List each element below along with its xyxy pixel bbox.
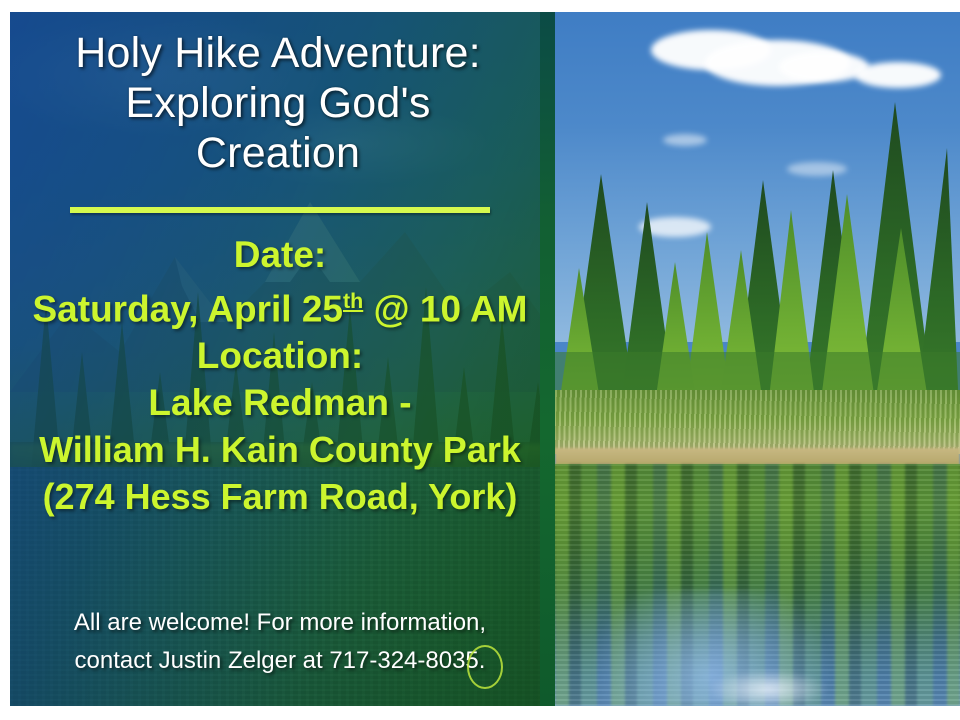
date-value: Saturday, April 25th @ 10 AM xyxy=(10,278,550,332)
date-label: Date: xyxy=(10,231,550,278)
right-grass-layer xyxy=(555,390,960,454)
title-line-1: Holy Hike Adventure: xyxy=(18,28,538,78)
page-title: Holy Hike Adventure: Exploring God's Cre… xyxy=(18,28,538,178)
right-treeline-icon xyxy=(555,52,960,432)
right-water-layer xyxy=(555,464,960,706)
footer-line-1: All are welcome! For more information, xyxy=(10,604,550,642)
location-line-1: Lake Redman - xyxy=(10,379,550,426)
date-value-suffix: @ 10 AM xyxy=(363,288,527,329)
contact-footer: All are welcome! For more information, c… xyxy=(10,604,550,680)
location-label: Location: xyxy=(10,332,550,379)
water-cloud-reflection xyxy=(693,658,843,706)
location-line-2: William H. Kain County Park xyxy=(10,426,550,473)
event-details-block: Date: Saturday, April 25th @ 10 AM Locat… xyxy=(10,231,550,520)
title-divider-rule xyxy=(70,207,490,213)
date-ordinal-suffix: th xyxy=(343,289,363,313)
location-line-3: (274 Hess Farm Road, York) xyxy=(10,473,550,520)
footer-line-2: contact Justin Zelger at 717-324-8035. xyxy=(10,642,550,680)
flyer-text-content: Holy Hike Adventure: Exploring God's Cre… xyxy=(10,12,550,706)
title-line-3: Creation xyxy=(18,128,538,178)
right-photo-panel xyxy=(555,12,960,706)
title-line-2: Exploring God's xyxy=(18,78,538,128)
date-value-prefix: Saturday, April 25 xyxy=(33,288,344,329)
slide-canvas: Holy Hike Adventure: Exploring God's Cre… xyxy=(0,0,960,720)
